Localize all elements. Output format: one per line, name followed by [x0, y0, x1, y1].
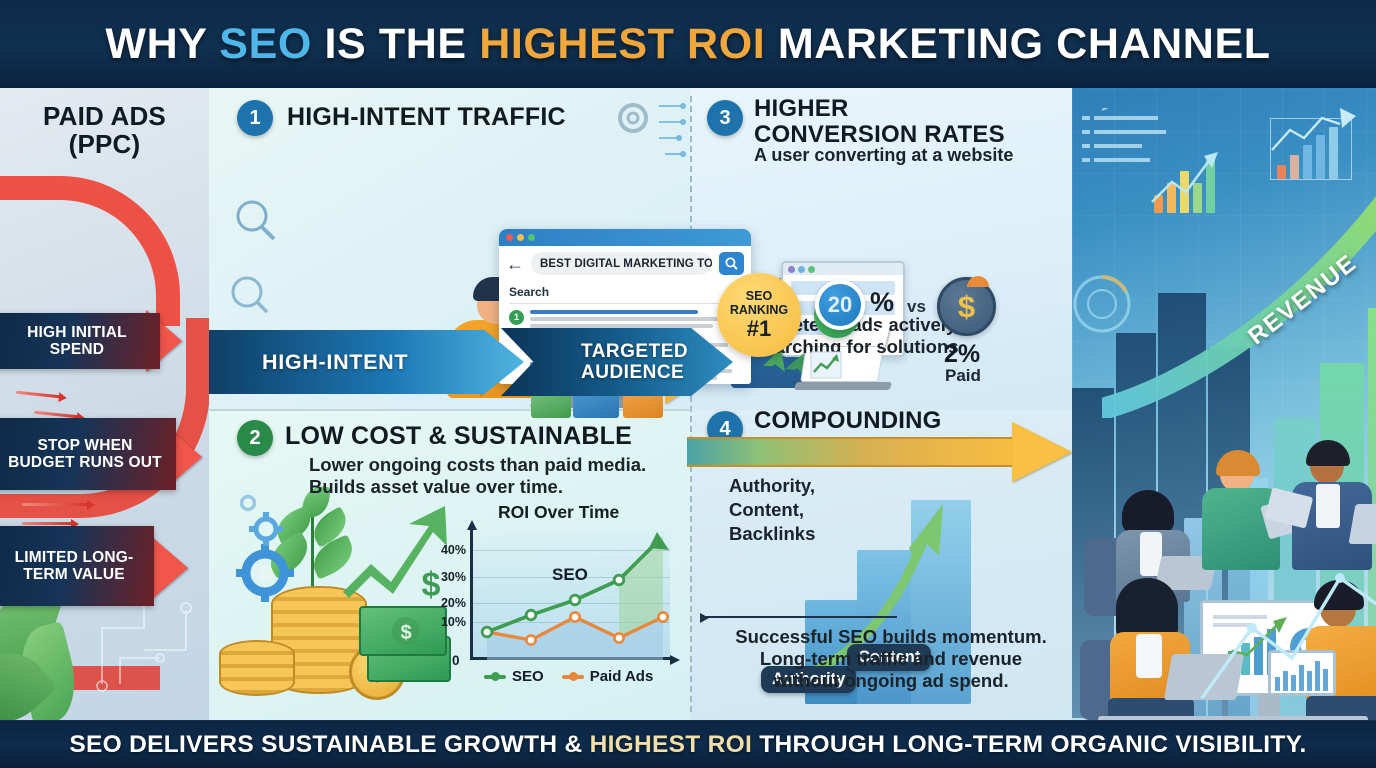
chart-annotation-seo: SEO — [552, 565, 588, 585]
paid-ads-badge-label: STOP WHEN BUDGET RUNS OUT — [2, 437, 168, 472]
red-loop-ribbon-top — [0, 176, 180, 326]
paid-ads-badge-label: HIGH INITIAL SPEND — [2, 324, 152, 359]
chart-plot-area: 10% 20% 30% 40% — [470, 530, 670, 660]
footer-part-3: THROUGH LONG-TERM ORGANIC VISIBILITY. — [752, 731, 1306, 758]
paid-ads-title: PAID ADS (PPC) — [0, 102, 209, 158]
title-part-seo: SEO — [219, 20, 312, 68]
section-4-caption: Successful SEO builds momentum. Long-ter… — [713, 626, 1069, 691]
section-3-title: HIGHER CONVERSION RATES — [754, 96, 1005, 148]
seo-ranking-badge-rank: #1 — [747, 316, 771, 341]
section-1-title: HIGH-INTENT TRAFFIC — [287, 103, 566, 132]
legend-label-paid-ads: Paid Ads — [590, 668, 654, 685]
seo-ranking-badge-line1: SEO — [746, 289, 772, 303]
legend-item-seo: SEO — [484, 668, 544, 685]
section-1-number: 1 — [249, 107, 260, 130]
footer-part-1: SEO DELIVERS SUSTAINABLE GROWTH & — [69, 731, 589, 758]
section-4-baseline — [701, 616, 897, 618]
paid-ads-badge-stop-when-budget-runs-out: STOP WHEN BUDGET RUNS OUT — [0, 418, 176, 490]
revenue-flow-arrow — [687, 423, 1077, 481]
back-arrow-icon[interactable]: ← — [506, 255, 524, 273]
serp-divider — [509, 303, 743, 304]
y-tick-30: 30% — [441, 570, 466, 584]
magnifier-decoration-icon — [233, 198, 277, 242]
header-banner: WHY SEO IS THE HIGHEST ROI MARKETING CHA… — [0, 0, 1376, 88]
roi-over-time-chart: ROI Over Time 0 10% 20% 30% 4 — [424, 508, 684, 698]
title-part-3: IS THE — [312, 20, 479, 68]
coin-stack-left — [219, 640, 295, 696]
high-intent-banner-label: HIGH-INTENT — [262, 350, 408, 375]
dollar-coin-icon: $ — [937, 277, 996, 336]
serp-rank-badge: 1 — [509, 310, 524, 325]
y-tick-0: 0 — [452, 653, 460, 668]
section-2-title: LOW COST & SUSTAINABLE — [285, 422, 632, 451]
footer-banner: SEO DELIVERS SUSTAINABLE GROWTH & HIGHES… — [0, 720, 1376, 768]
paid-ads-badge-limited-long-term-value: LIMITED LONG-TERM VALUE — [0, 526, 154, 606]
magnifier-decoration-icon-2 — [229, 274, 269, 314]
gear-icon-small — [249, 512, 283, 546]
section-2-number-badge: 2 — [237, 420, 273, 456]
section-2-subtitle-line2: Builds asset value over time. — [309, 476, 563, 497]
paid-ads-badge-label: LIMITED LONG-TERM VALUE — [2, 549, 146, 584]
serp-result-row[interactable]: 1 — [509, 310, 743, 331]
seo-ranking-badge: SEO RANKING #1 — [717, 273, 801, 357]
gear-icon-tiny — [237, 492, 259, 514]
title-part-highest-roi: HIGHEST ROI — [479, 20, 765, 68]
paid-ads-column: PAID ADS (PPC) HIGH INITIAL SPEND STOP W… — [0, 88, 209, 720]
paid-ads-title-line2: (PPC) — [69, 129, 141, 159]
svg-text:$: $ — [400, 622, 411, 644]
browser-titlebar — [499, 229, 751, 246]
paid-conversion-label: Paid — [945, 366, 981, 386]
section-2-subtitle: Lower ongoing costs than paid media. Bui… — [309, 454, 646, 498]
targeted-audience-banner: TARGETED AUDIENCE — [501, 328, 733, 396]
title-part-5: MARKETING CHANNEL — [765, 20, 1270, 68]
section-3-number: 3 — [719, 107, 730, 130]
infographic-canvas: WHY SEO IS THE HIGHEST ROI MARKETING CHA… — [0, 0, 1376, 768]
search-icon — [725, 257, 738, 270]
section-4-caption-line3: without ongoing ad spend. — [773, 670, 1008, 691]
section-3-title-line1: HIGHER — [754, 95, 849, 122]
window-maximize-dot[interactable] — [528, 234, 535, 241]
section-2-subtitle-line1: Lower ongoing costs than paid media. — [309, 454, 646, 475]
legend-swatch-seo — [484, 675, 506, 679]
search-input-value: BEST DIGITAL MARKETING TOOLS — [540, 258, 712, 270]
chart-title: ROI Over Time — [498, 502, 619, 523]
ppc-tiny-arrow-3 — [22, 503, 88, 506]
seo-conversion-rate-bubble: 20 — [815, 280, 865, 330]
chart-series-svg — [473, 530, 673, 660]
revenue-growth-panel: REVENUE — [1072, 88, 1376, 720]
conference-table — [1098, 716, 1368, 720]
legend-label-seo: SEO — [512, 668, 544, 685]
vertical-divider — [690, 96, 692, 712]
y-tick-10: 10% — [441, 615, 466, 629]
gear-icon-large — [235, 543, 295, 603]
seo-panel: 1 HIGH-INTENT TRAFFIC — [209, 88, 1376, 720]
vs-label: vs — [907, 297, 926, 317]
serp-section-label: Search — [509, 285, 743, 299]
title-part-1: WHY — [105, 20, 219, 68]
seo-ranking-badge-line2: RANKING — [730, 303, 788, 317]
footer-part-highest-roi: HIGHEST ROI — [590, 731, 753, 758]
monitor-stand — [1258, 694, 1280, 716]
ppc-tiny-arrow-4 — [22, 522, 72, 525]
section-3-number-badge: 3 — [707, 100, 743, 136]
window-minimize-dot[interactable] — [517, 234, 524, 241]
legend-swatch-paid-ads — [562, 675, 584, 679]
serp-result-lines — [530, 310, 743, 331]
targeted-audience-banner-line1: TARGETED — [581, 341, 688, 362]
search-input[interactable]: BEST DIGITAL MARKETING TOOLS — [531, 252, 712, 275]
high-intent-banner: HIGH-INTENT — [209, 330, 524, 394]
bill-dollar-icon: $ — [389, 614, 423, 648]
section-3-title-line2: CONVERSION RATES — [754, 121, 1005, 148]
paid-ads-title-line1: PAID ADS — [43, 101, 166, 131]
y-axis-arrow — [467, 520, 477, 530]
y-tick-40: 40% — [441, 543, 466, 557]
section-4-caption-line1: Successful SEO builds momentum. — [735, 626, 1046, 647]
section-4-caption-line2: Long-term traffic and revenue — [760, 648, 1022, 669]
gear-circuit-decoration-icon — [609, 96, 687, 182]
window-close-dot[interactable] — [506, 234, 513, 241]
section-1-number-badge: 1 — [237, 100, 273, 136]
browser-url-row: ← BEST DIGITAL MARKETING TOOLS — [499, 246, 751, 280]
legend-item-paid-ads: Paid Ads — [562, 668, 654, 685]
ppc-arrowhead-3 — [152, 537, 188, 599]
laptop-chart-icon — [809, 350, 843, 380]
page-title: WHY SEO IS THE HIGHEST ROI MARKETING CHA… — [105, 20, 1270, 69]
infographic-body: PAID ADS (PPC) HIGH INITIAL SPEND STOP W… — [0, 88, 1376, 720]
targeted-audience-banner-line2: AUDIENCE — [581, 362, 684, 383]
paid-conversion-value: 2% — [944, 340, 980, 369]
search-button[interactable] — [719, 252, 744, 275]
y-tick-20: 20% — [441, 596, 466, 610]
section-3-subtitle: A user converting at a website — [754, 145, 1013, 166]
seo-conversion-value: 20 — [828, 292, 852, 318]
paid-ads-badge-high-initial-spend: HIGH INITIAL SPEND — [0, 313, 160, 369]
seo-conversion-percent-symbol: % — [870, 287, 894, 318]
section-2-number: 2 — [249, 427, 260, 450]
footer-title: SEO DELIVERS SUSTAINABLE GROWTH & HIGHES… — [69, 731, 1306, 759]
chart-legend: SEO Paid Ads — [484, 668, 653, 685]
